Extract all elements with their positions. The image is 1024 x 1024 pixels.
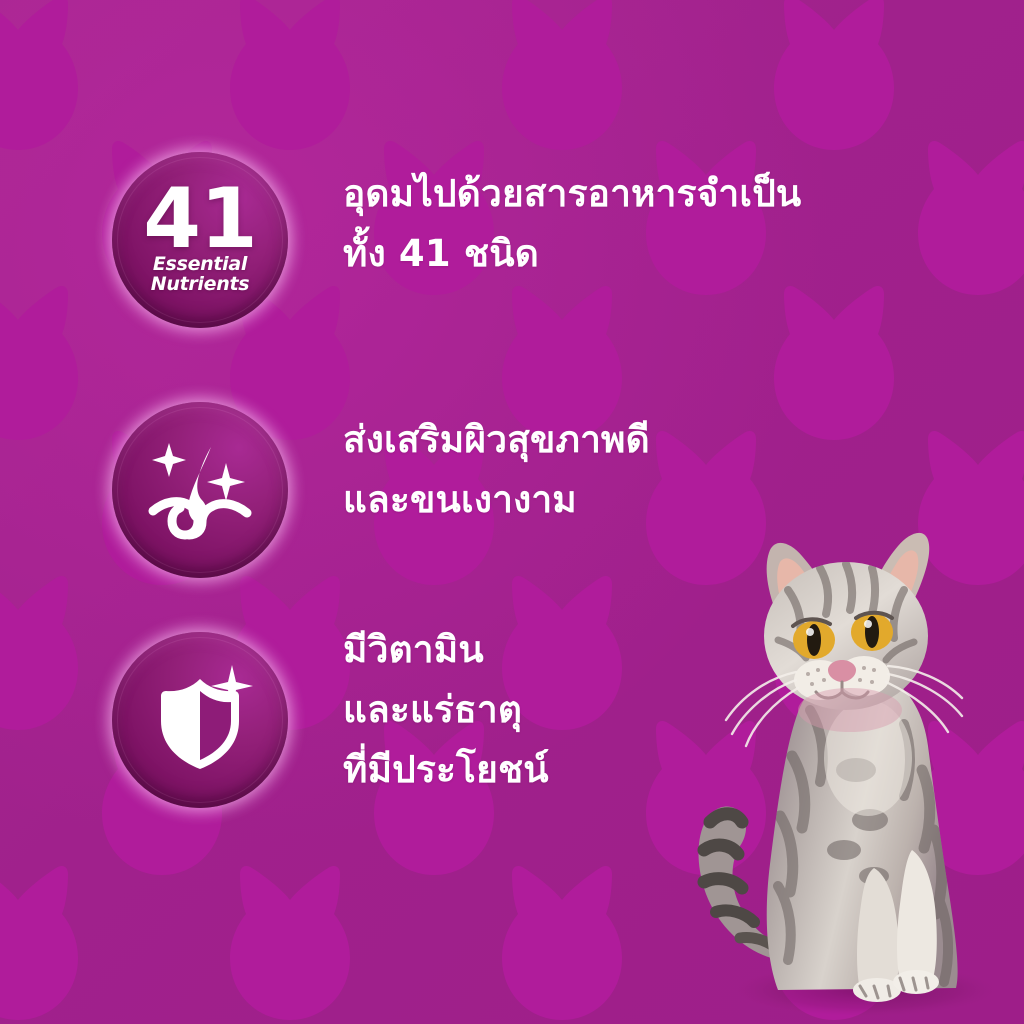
hair-follicle-sparkle-icon: [135, 425, 265, 555]
nutrient-count: 41: [112, 182, 288, 255]
nutrient-caption-line-1: Essential: [112, 255, 288, 274]
feature-row-healthy-skin-coat: ส่งเสริมผิวสุขภาพดี และขนเงางาม: [96, 386, 650, 594]
badge-content: [112, 655, 288, 785]
feature-row-essential-nutrients: 41 Essential Nutrients อุดมไปด้วยสารอาหา…: [96, 136, 801, 344]
feature-line: อุดมไปด้วยสารอาหารจำเป็น: [343, 164, 801, 224]
shield-sparkle-icon: [135, 655, 265, 785]
badge-healthy-skin-coat: [96, 386, 304, 594]
promo-banner: 41 Essential Nutrients อุดมไปด้วยสารอาหา…: [0, 0, 1024, 1024]
nutrient-caption-line-2: Nutrients: [112, 275, 288, 294]
feature-line: ที่มีประโยชน์: [343, 740, 549, 800]
feature-row-vitamins-minerals: มีวิตามิน และแร่ธาตุ ที่มีประโยชน์: [96, 616, 549, 824]
feature-line: และแร่ธาตุ: [343, 680, 549, 740]
badge-content: [112, 425, 288, 555]
feature-line: ทั้ง 41 ชนิด: [343, 224, 801, 284]
badge-vitamins-minerals: [96, 616, 304, 824]
badge-content: 41 Essential Nutrients: [112, 186, 288, 295]
feature-line: มีวิตามิน: [343, 620, 549, 680]
badge-essential-nutrients: 41 Essential Nutrients: [96, 136, 304, 344]
feature-line: ส่งเสริมผิวสุขภาพดี: [343, 410, 650, 470]
feature-text-vitamins-minerals: มีวิตามิน และแร่ธาตุ ที่มีประโยชน์: [343, 616, 549, 800]
feature-line: และขนเงางาม: [343, 470, 650, 530]
feature-text-healthy-skin-coat: ส่งเสริมผิวสุขภาพดี และขนเงางาม: [343, 386, 650, 530]
feature-text-essential-nutrients: อุดมไปด้วยสารอาหารจำเป็น ทั้ง 41 ชนิด: [343, 136, 801, 284]
